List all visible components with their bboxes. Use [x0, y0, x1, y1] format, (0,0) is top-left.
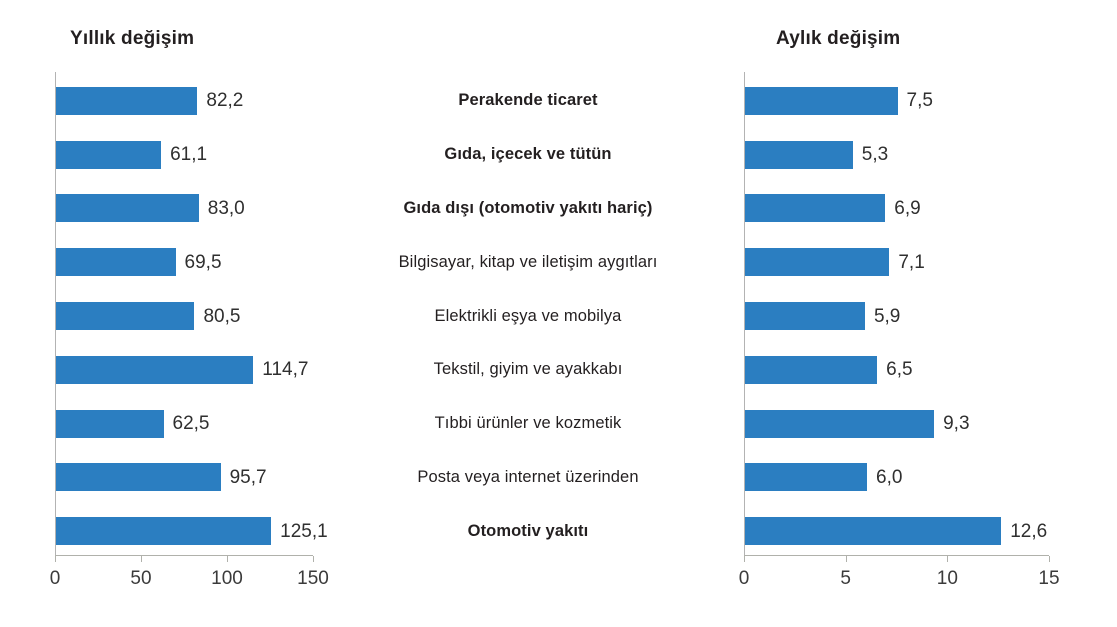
bar — [745, 302, 865, 330]
bar-row: 7,1 — [745, 235, 1049, 289]
bar-value-label: 95,7 — [230, 468, 267, 487]
bar-row: 83,0 — [56, 182, 313, 236]
category-label: Gıda dışı (otomotiv yakıtı hariç) — [333, 182, 723, 236]
category-label: Perakende ticaret — [333, 74, 723, 128]
category-label: Tekstil, giyim ve ayakkabı — [333, 343, 723, 397]
bar-value-label: 69,5 — [185, 253, 222, 272]
bar-value-label: 80,5 — [203, 307, 240, 326]
bar-value-label: 114,7 — [262, 360, 308, 379]
bar-value-label: 82,2 — [206, 91, 243, 110]
bar-value-label: 7,1 — [898, 253, 924, 272]
dual-bar-chart-figure: Yıllık değişim Aylık değişim 82,261,183,… — [0, 0, 1117, 627]
category-label: Posta veya internet üzerinden — [333, 451, 723, 505]
bar-row: 69,5 — [56, 235, 313, 289]
bar-value-label: 125,1 — [280, 522, 328, 541]
left-chart-bars: 82,261,183,069,580,5114,762,595,7125,1 — [56, 72, 313, 556]
bar — [745, 87, 898, 115]
left-chart-title: Yıllık değişim — [70, 28, 194, 50]
bar — [745, 410, 934, 438]
bar-value-label: 61,1 — [170, 145, 207, 164]
bar-row: 6,5 — [745, 343, 1049, 397]
bar-row: 6,9 — [745, 182, 1049, 236]
right-chart-plot-area: 7,55,36,97,15,96,59,36,012,6 051015 — [744, 72, 1049, 556]
axis-tick-label: 0 — [50, 568, 61, 590]
bar — [56, 141, 161, 169]
category-label: Elektrikli eşya ve mobilya — [333, 289, 723, 343]
bar — [745, 356, 877, 384]
bar-row: 9,3 — [745, 397, 1049, 451]
bar-row: 61,1 — [56, 128, 313, 182]
bar-value-label: 7,5 — [907, 91, 933, 110]
axis-tick-label: 10 — [937, 568, 958, 590]
bar-value-label: 9,3 — [943, 414, 969, 433]
bar — [56, 248, 176, 276]
left-chart-plot-area: 82,261,183,069,580,5114,762,595,7125,1 0… — [55, 72, 313, 556]
bar-row: 95,7 — [56, 451, 313, 505]
bar — [745, 141, 853, 169]
axis-tick-mark — [55, 556, 56, 562]
bar-row: 12,6 — [745, 504, 1049, 558]
bar-row: 80,5 — [56, 289, 313, 343]
bar — [56, 302, 194, 330]
bar-value-label: 6,9 — [894, 199, 920, 218]
bar — [56, 356, 253, 384]
axis-tick-mark — [227, 556, 228, 562]
bar — [56, 194, 199, 222]
bar — [745, 517, 1001, 545]
category-label: Gıda, içecek ve tütün — [333, 128, 723, 182]
axis-tick-mark — [846, 556, 847, 562]
category-label: Bilgisayar, kitap ve iletişim aygıtları — [333, 235, 723, 289]
bar — [56, 87, 197, 115]
axis-tick-mark — [1049, 556, 1050, 562]
bar — [745, 194, 885, 222]
category-label: Tıbbi ürünler ve kozmetik — [333, 397, 723, 451]
bar-value-label: 12,6 — [1010, 522, 1047, 541]
axis-tick-label: 15 — [1038, 568, 1059, 590]
bar-value-label: 5,9 — [874, 307, 900, 326]
bar-value-label: 83,0 — [208, 199, 245, 218]
category-label-column: Perakende ticaretGıda, içecek ve tütünGı… — [333, 72, 723, 556]
bar — [745, 248, 889, 276]
bar — [56, 410, 164, 438]
axis-tick-label: 50 — [130, 568, 151, 590]
bar-row: 6,0 — [745, 451, 1049, 505]
axis-tick-mark — [313, 556, 314, 562]
bar-value-label: 6,5 — [886, 360, 912, 379]
right-chart-title: Aylık değişim — [776, 28, 900, 50]
bar-value-label: 5,3 — [862, 145, 888, 164]
bar-row: 82,2 — [56, 74, 313, 128]
axis-tick-label: 150 — [297, 568, 329, 590]
axis-tick-mark — [947, 556, 948, 562]
bar-row: 62,5 — [56, 397, 313, 451]
bar — [56, 463, 221, 491]
axis-tick-label: 100 — [211, 568, 243, 590]
bar — [745, 463, 867, 491]
right-chart-bars: 7,55,36,97,15,96,59,36,012,6 — [745, 72, 1049, 556]
bar-row: 114,7 — [56, 343, 313, 397]
bar-row: 125,1 — [56, 504, 313, 558]
axis-tick-mark — [744, 556, 745, 562]
axis-tick-label: 5 — [840, 568, 851, 590]
category-label: Otomotiv yakıtı — [333, 504, 723, 558]
bar-row: 7,5 — [745, 74, 1049, 128]
bar-value-label: 62,5 — [173, 414, 210, 433]
axis-tick-label: 0 — [739, 568, 750, 590]
bar — [56, 517, 271, 545]
bar-row: 5,9 — [745, 289, 1049, 343]
axis-tick-mark — [141, 556, 142, 562]
bar-value-label: 6,0 — [876, 468, 902, 487]
bar-row: 5,3 — [745, 128, 1049, 182]
